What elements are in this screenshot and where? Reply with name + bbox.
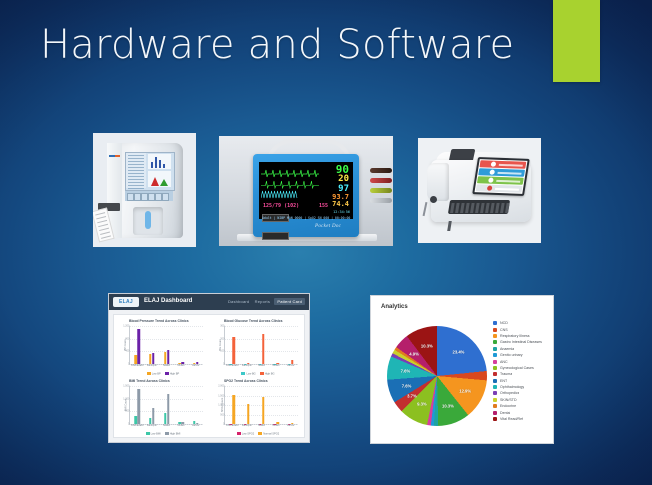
- chart-y-tick: 200: [220, 337, 224, 340]
- chart-plot-area: BP Count04008001,200ChichawatniKarampurS…: [129, 326, 203, 365]
- biochemistry-analyzer-photo: [418, 138, 541, 243]
- legend-swatch: [493, 385, 497, 389]
- pie-slice-label: 12.9%: [459, 389, 471, 394]
- pie-slice-label: 7.6%: [401, 368, 411, 373]
- hematology-analyzer-photo: [93, 133, 196, 247]
- chart-bar-group: Chichawatni: [230, 326, 236, 364]
- chart-x-tick: Sialkot: [258, 425, 265, 427]
- ecg-waveform-lead1: [261, 164, 319, 178]
- legend-label: Respiratory Illness: [500, 334, 530, 338]
- chart-x-tick: Chichawatni: [131, 365, 144, 367]
- chart-legend: Low BMIHigh BMI: [117, 432, 205, 436]
- chart-y-tick: 400: [125, 350, 129, 353]
- pie-slice-label: 10.3%: [442, 404, 454, 409]
- chart-bar-group: Multan: [273, 326, 279, 364]
- chart-bar-group: Karampur: [244, 326, 250, 364]
- chart-y-tick: 100: [220, 350, 224, 353]
- chart-bar-group: Karampur: [149, 386, 155, 424]
- chart-bar-group: Karampur: [149, 326, 155, 364]
- analyzer-sample-tube: [145, 211, 151, 229]
- legend-label: Low BP: [152, 372, 161, 375]
- dashboard-chart-grid: Blood Pressure Trend Across ClinicsBP Co…: [113, 314, 305, 438]
- chart-plot-area: BMI Count05001,0001,500ChichawatniKaramp…: [129, 386, 203, 425]
- bio-menu-row-4: [476, 184, 523, 193]
- legend-swatch: [493, 379, 497, 383]
- legend-swatch: [493, 334, 497, 338]
- chart-bar: [233, 395, 236, 424]
- pie-slice-label: 9.3%: [417, 402, 427, 407]
- chart-title: SPO2 Trend Across Clinics: [224, 379, 300, 383]
- chart-x-tick: Karampur: [147, 425, 157, 427]
- pie-slice-label: 7.6%: [402, 383, 412, 388]
- legend-label: Anaemia: [500, 347, 514, 351]
- chart-x-tick: Multan: [178, 365, 185, 367]
- legend-label: Low BMI: [151, 432, 161, 435]
- chart-y-tick: 800: [125, 337, 129, 340]
- chart-bar: [247, 404, 250, 424]
- dashboard-title: ELAJ Dashboard: [144, 298, 192, 304]
- monitor-softkeys[interactable]: [262, 209, 318, 216]
- page-title: Hardware and Software: [40, 22, 514, 68]
- legend-swatch: [493, 398, 497, 402]
- chart-x-tick: Karampur: [147, 365, 157, 367]
- legend-swatch: [493, 360, 497, 364]
- chart-y-tick: 500: [125, 410, 129, 413]
- legend-label: Orthopedics: [500, 391, 519, 395]
- vital-pr-value: 155: [319, 203, 328, 209]
- legend-swatch: [258, 432, 262, 435]
- vital-rr-value: 20: [338, 175, 349, 184]
- legend-label: Endocrine: [500, 404, 516, 408]
- chart-bar-group: Sialkot: [164, 326, 170, 364]
- chart-title: Blood Glucose Trend Across Clinics: [224, 319, 300, 323]
- legend-swatch: [493, 417, 497, 421]
- legend-swatch: [493, 353, 497, 357]
- chart-blood-pressure: Blood Pressure Trend Across ClinicsBP Co…: [117, 319, 205, 375]
- pie-chart-area: 23.4%12.9%10.3%9.3%3.7%7.6%7.6%4.9%10.3%: [383, 322, 491, 432]
- analyzer-keypad: [125, 191, 173, 201]
- chart-bar: [152, 408, 155, 424]
- legend-swatch: [260, 372, 264, 375]
- chart-y-tick: 300: [220, 325, 224, 328]
- chart-x-tick: Sialkot: [163, 425, 170, 427]
- legend-label: Dental: [500, 411, 510, 415]
- analytics-pie-screenshot: Analytics 23.4%12.9%10.3%9.3%3.7%7.6%7.6…: [370, 295, 554, 444]
- chart-bar-group: Karampur: [244, 386, 250, 424]
- chart-bar-group: Multan: [178, 386, 184, 424]
- chart-bar-group: Lahore: [193, 386, 199, 424]
- analyzer-brand-stripe: [109, 155, 120, 157]
- chart-bar: [196, 362, 199, 364]
- pie-slice-label: 4.9%: [409, 351, 419, 356]
- legend-label: NCD: [500, 321, 508, 325]
- bio-valve-knob: [430, 196, 437, 203]
- pleth-waveform: [261, 188, 319, 201]
- chart-bar-group: Chichawatni: [230, 386, 236, 424]
- analyzer-histogram-wbc: [148, 154, 171, 169]
- dashboard-nav-active[interactable]: Patient Card: [274, 298, 305, 305]
- chart-bar: [262, 397, 265, 424]
- chart-bar: [138, 329, 141, 364]
- legend-swatch: [493, 347, 497, 351]
- legend-label: Genito urinary: [500, 353, 523, 357]
- bio-aspiration-probe: [423, 202, 427, 216]
- legend-label: ENT: [500, 379, 507, 383]
- analyzer-histogram-rbc: [148, 171, 171, 187]
- dashboard-nav-item-dashboard[interactable]: Dashboard: [228, 299, 249, 304]
- legend-swatch: [165, 432, 169, 435]
- analyzer-screen-params: [126, 153, 146, 188]
- chart-y-tick: 1,000: [123, 397, 129, 400]
- chart-legend: Low BPHigh BP: [117, 372, 205, 376]
- chart-y-tick: 1,000: [218, 404, 224, 407]
- monitor-brand-label: Pocket Doc: [315, 224, 341, 229]
- accent-rectangle: [553, 0, 600, 82]
- chart-y-tick: 1,500: [218, 394, 224, 397]
- legend-swatch: [493, 411, 497, 415]
- chart-bar-group: Lahore: [288, 386, 294, 424]
- legend-swatch: [493, 391, 497, 395]
- legend-swatch: [147, 372, 151, 375]
- chart-plot-area: BG Count0100200300ChichawatniKarampurSia…: [224, 326, 298, 365]
- chart-bar-group: Multan: [178, 326, 184, 364]
- chart-blood-glucose: Blood Glucose Trend Across ClinicsBG Cou…: [212, 319, 300, 375]
- chart-x-tick: Multan: [178, 425, 185, 427]
- dashboard-nav-item-reports[interactable]: Reports: [255, 299, 270, 304]
- chart-bar-group: Sialkot: [259, 386, 265, 424]
- chart-legend: Low BGHigh BG: [212, 372, 300, 376]
- chart-bar: [167, 350, 170, 364]
- chart-x-tick: Sialkot: [163, 365, 170, 367]
- chart-plot-area: SPO2 Count05001,0001,5002,000Chichawatni…: [224, 386, 298, 425]
- chart-y-tick: 0: [223, 423, 224, 426]
- chart-y-tick: 0: [128, 363, 129, 366]
- chart-x-tick: Lahore: [287, 425, 294, 427]
- slide-canvas: Hardware and Software: [0, 0, 652, 485]
- chart-spo2: SPO2 Trend Across ClinicsSPO2 Count05001…: [212, 379, 300, 435]
- chart-bar: [138, 389, 141, 424]
- monitor-status-bar: Adult | NIBP MAN 0000 | SpO2 SN 000 | 00…: [262, 216, 350, 220]
- legend-label: CNS: [500, 328, 508, 332]
- legend-swatch: [493, 321, 497, 325]
- chart-x-tick: Lahore: [287, 365, 294, 367]
- chart-bar: [181, 422, 184, 424]
- chart-bar-group: Chichawatni: [135, 326, 141, 364]
- elaj-dashboard-screenshot: ELAJ ELAJ Dashboard Dashboard Reports Pa…: [108, 293, 310, 443]
- chart-title: Blood Pressure Trend Across Clinics: [129, 319, 205, 323]
- monitor-cable-ports: [358, 166, 392, 214]
- chart-bar-group: Lahore: [193, 326, 199, 364]
- dashboard-nav[interactable]: Dashboard Reports Patient Card: [228, 299, 305, 304]
- pie-slice-label: 10.3%: [421, 343, 433, 348]
- legend-label: Low SPO2: [242, 432, 254, 435]
- chart-y-tick: 0: [223, 363, 224, 366]
- legend-swatch: [237, 432, 241, 435]
- bio-sample-tray: [448, 200, 510, 214]
- chart-bar: [247, 363, 250, 364]
- bio-touchscreen-menu[interactable]: [475, 159, 528, 194]
- legend-label: High BG: [265, 372, 275, 375]
- chart-bar: [152, 353, 155, 364]
- chart-bar-group: Lahore: [288, 326, 294, 364]
- chart-y-tick: 2,000: [218, 385, 224, 388]
- legend-label: Trauma: [500, 372, 512, 376]
- chart-x-tick: Multan: [273, 425, 280, 427]
- chart-bmi: BMI Trend Across ClinicsBMI Count05001,0…: [117, 379, 205, 435]
- chart-legend: Low SPO2Normal SPO2: [212, 432, 300, 436]
- chart-x-tick: Chichawatni: [131, 425, 144, 427]
- bio-cuvette-door: [427, 163, 449, 201]
- monitor-display: 90 20 97 93.7 74.4 125/79 (102) 155 Adul…: [259, 162, 353, 219]
- chart-bar: [291, 360, 294, 364]
- chart-bar: [196, 423, 199, 424]
- chart-bar: [233, 337, 236, 364]
- chart-x-tick: Lahore: [192, 365, 199, 367]
- legend-swatch: [493, 366, 497, 370]
- legend-swatch: [146, 432, 150, 435]
- chart-bar-group: Multan: [273, 386, 279, 424]
- legend-label: High BMI: [170, 432, 181, 435]
- vital-temp2-value: 74.4: [332, 201, 349, 208]
- legend-label: Low BG: [246, 372, 255, 375]
- chart-y-tick: 0: [128, 423, 129, 426]
- chart-x-tick: Lahore: [192, 425, 199, 427]
- legend-swatch: [493, 404, 497, 408]
- pie-chart-title: Analytics: [381, 304, 408, 310]
- chart-bar: [262, 334, 265, 364]
- legend-swatch: [493, 328, 497, 332]
- dashboard-logo: ELAJ: [113, 297, 139, 307]
- patient-monitor-photo: Pocket Doc 90 20 97 93.7 74.4 125/79 (10…: [219, 136, 393, 246]
- chart-x-tick: Multan: [273, 365, 280, 367]
- chart-bar-group: Chichawatni: [135, 386, 141, 424]
- chart-x-tick: Karampur: [242, 425, 252, 427]
- chart-bar-group: Sialkot: [164, 386, 170, 424]
- legend-label: Vital Read/Ref: [500, 417, 523, 421]
- chart-bar: [291, 423, 294, 424]
- chart-bar: [276, 363, 279, 364]
- pie-slice-label: 3.7%: [407, 393, 417, 398]
- chart-title: BMI Trend Across Clinics: [129, 379, 205, 383]
- pie-slice-label: 23.4%: [453, 350, 465, 355]
- legend-label: Ophthalmology: [500, 385, 524, 389]
- pie-legend-item[interactable]: Vital Read/Ref: [493, 416, 549, 422]
- monitor-battery-clock: 12:34:56: [333, 210, 350, 214]
- legend-swatch: [241, 372, 245, 375]
- legend-swatch: [165, 372, 169, 375]
- chart-y-tick: 1,200: [123, 325, 129, 328]
- chart-x-tick: Sialkot: [258, 365, 265, 367]
- chart-x-tick: Chichawatni: [226, 365, 239, 367]
- legend-label: Gynecological Cases: [500, 366, 534, 370]
- legend-swatch: [493, 372, 497, 376]
- chart-y-tick: 1,500: [123, 385, 129, 388]
- dashboard-header: ELAJ ELAJ Dashboard Dashboard Reports Pa…: [109, 294, 309, 310]
- pie-disc: [387, 326, 487, 426]
- chart-x-tick: Karampur: [242, 365, 252, 367]
- chart-bar: [181, 362, 184, 364]
- chart-bar: [276, 422, 279, 424]
- legend-label: Normal SPO2: [263, 432, 279, 435]
- chart-bar-group: Sialkot: [259, 326, 265, 364]
- chart-x-tick: Chichawatni: [226, 425, 239, 427]
- legend-label: ANC: [500, 360, 508, 364]
- legend-label: Gastro Intestinal Diseases: [500, 340, 542, 344]
- legend-label: SKIN/STD: [500, 398, 517, 402]
- legend-label: High BP: [170, 372, 180, 375]
- pie-legend: NCDCNSRespiratory IllnessGastro Intestin…: [493, 320, 549, 422]
- chart-y-tick: 500: [220, 413, 224, 416]
- chart-bar: [167, 394, 170, 424]
- legend-swatch: [493, 340, 497, 344]
